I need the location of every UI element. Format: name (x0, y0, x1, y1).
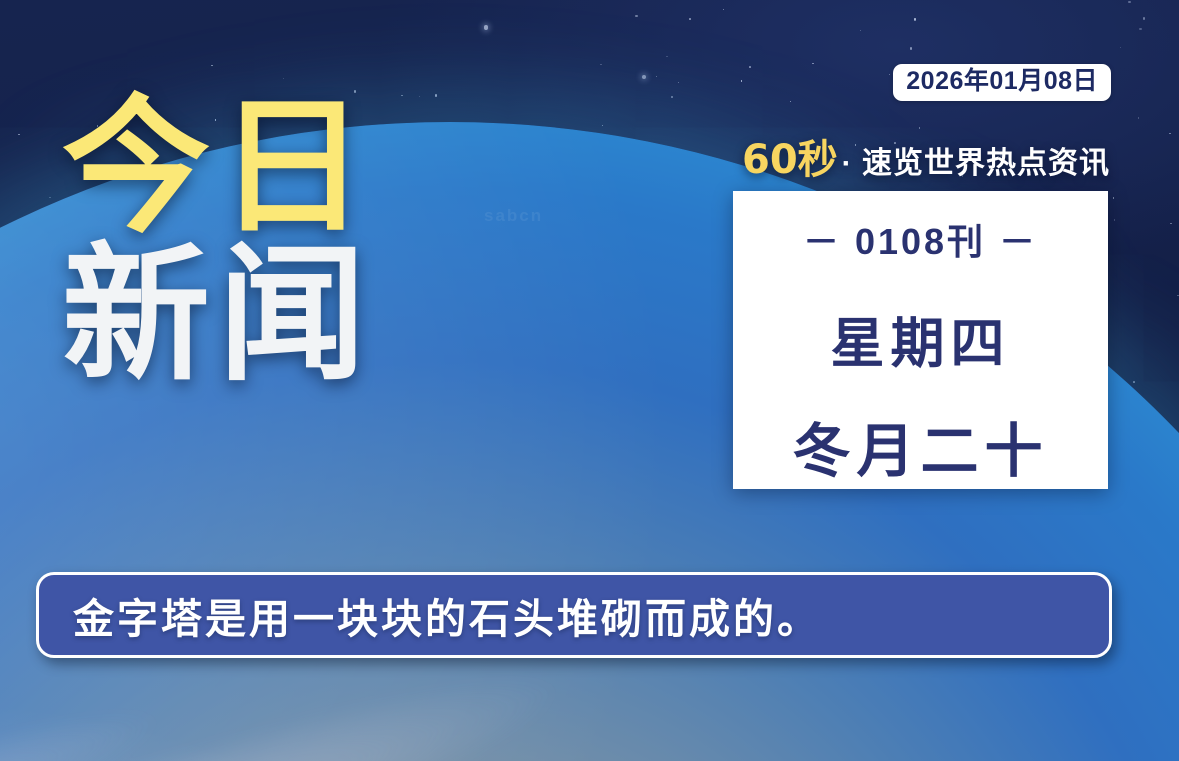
info-card: － 0108刊 － 星期四 冬月二十 (733, 191, 1108, 489)
news-poster: sabcn 2026年01月08日 今日 新闻 60秒· 速览世界热点资讯 － … (0, 0, 1179, 761)
page-title: 今日 新闻 (62, 96, 374, 386)
quote-text: 金字塔是用一块块的石头堆砌而成的。 (73, 585, 821, 645)
tagline-duration: 60秒 (742, 137, 838, 183)
quote-bar: 金字塔是用一块块的石头堆砌而成的。 (36, 572, 1112, 658)
page-title-line-1: 今日 (62, 96, 374, 238)
date-badge: 2026年01月08日 (893, 64, 1111, 101)
lunar-date-label: 冬月二十 (792, 404, 1048, 488)
tagline: 60秒· 速览世界热点资讯 (742, 140, 1110, 180)
tagline-text: · 速览世界热点资讯 (842, 147, 1110, 180)
issue-number: － 0108刊 － (803, 213, 1038, 265)
weekday-label: 星期四 (831, 299, 1011, 378)
page-title-line-2: 新闻 (62, 244, 374, 386)
